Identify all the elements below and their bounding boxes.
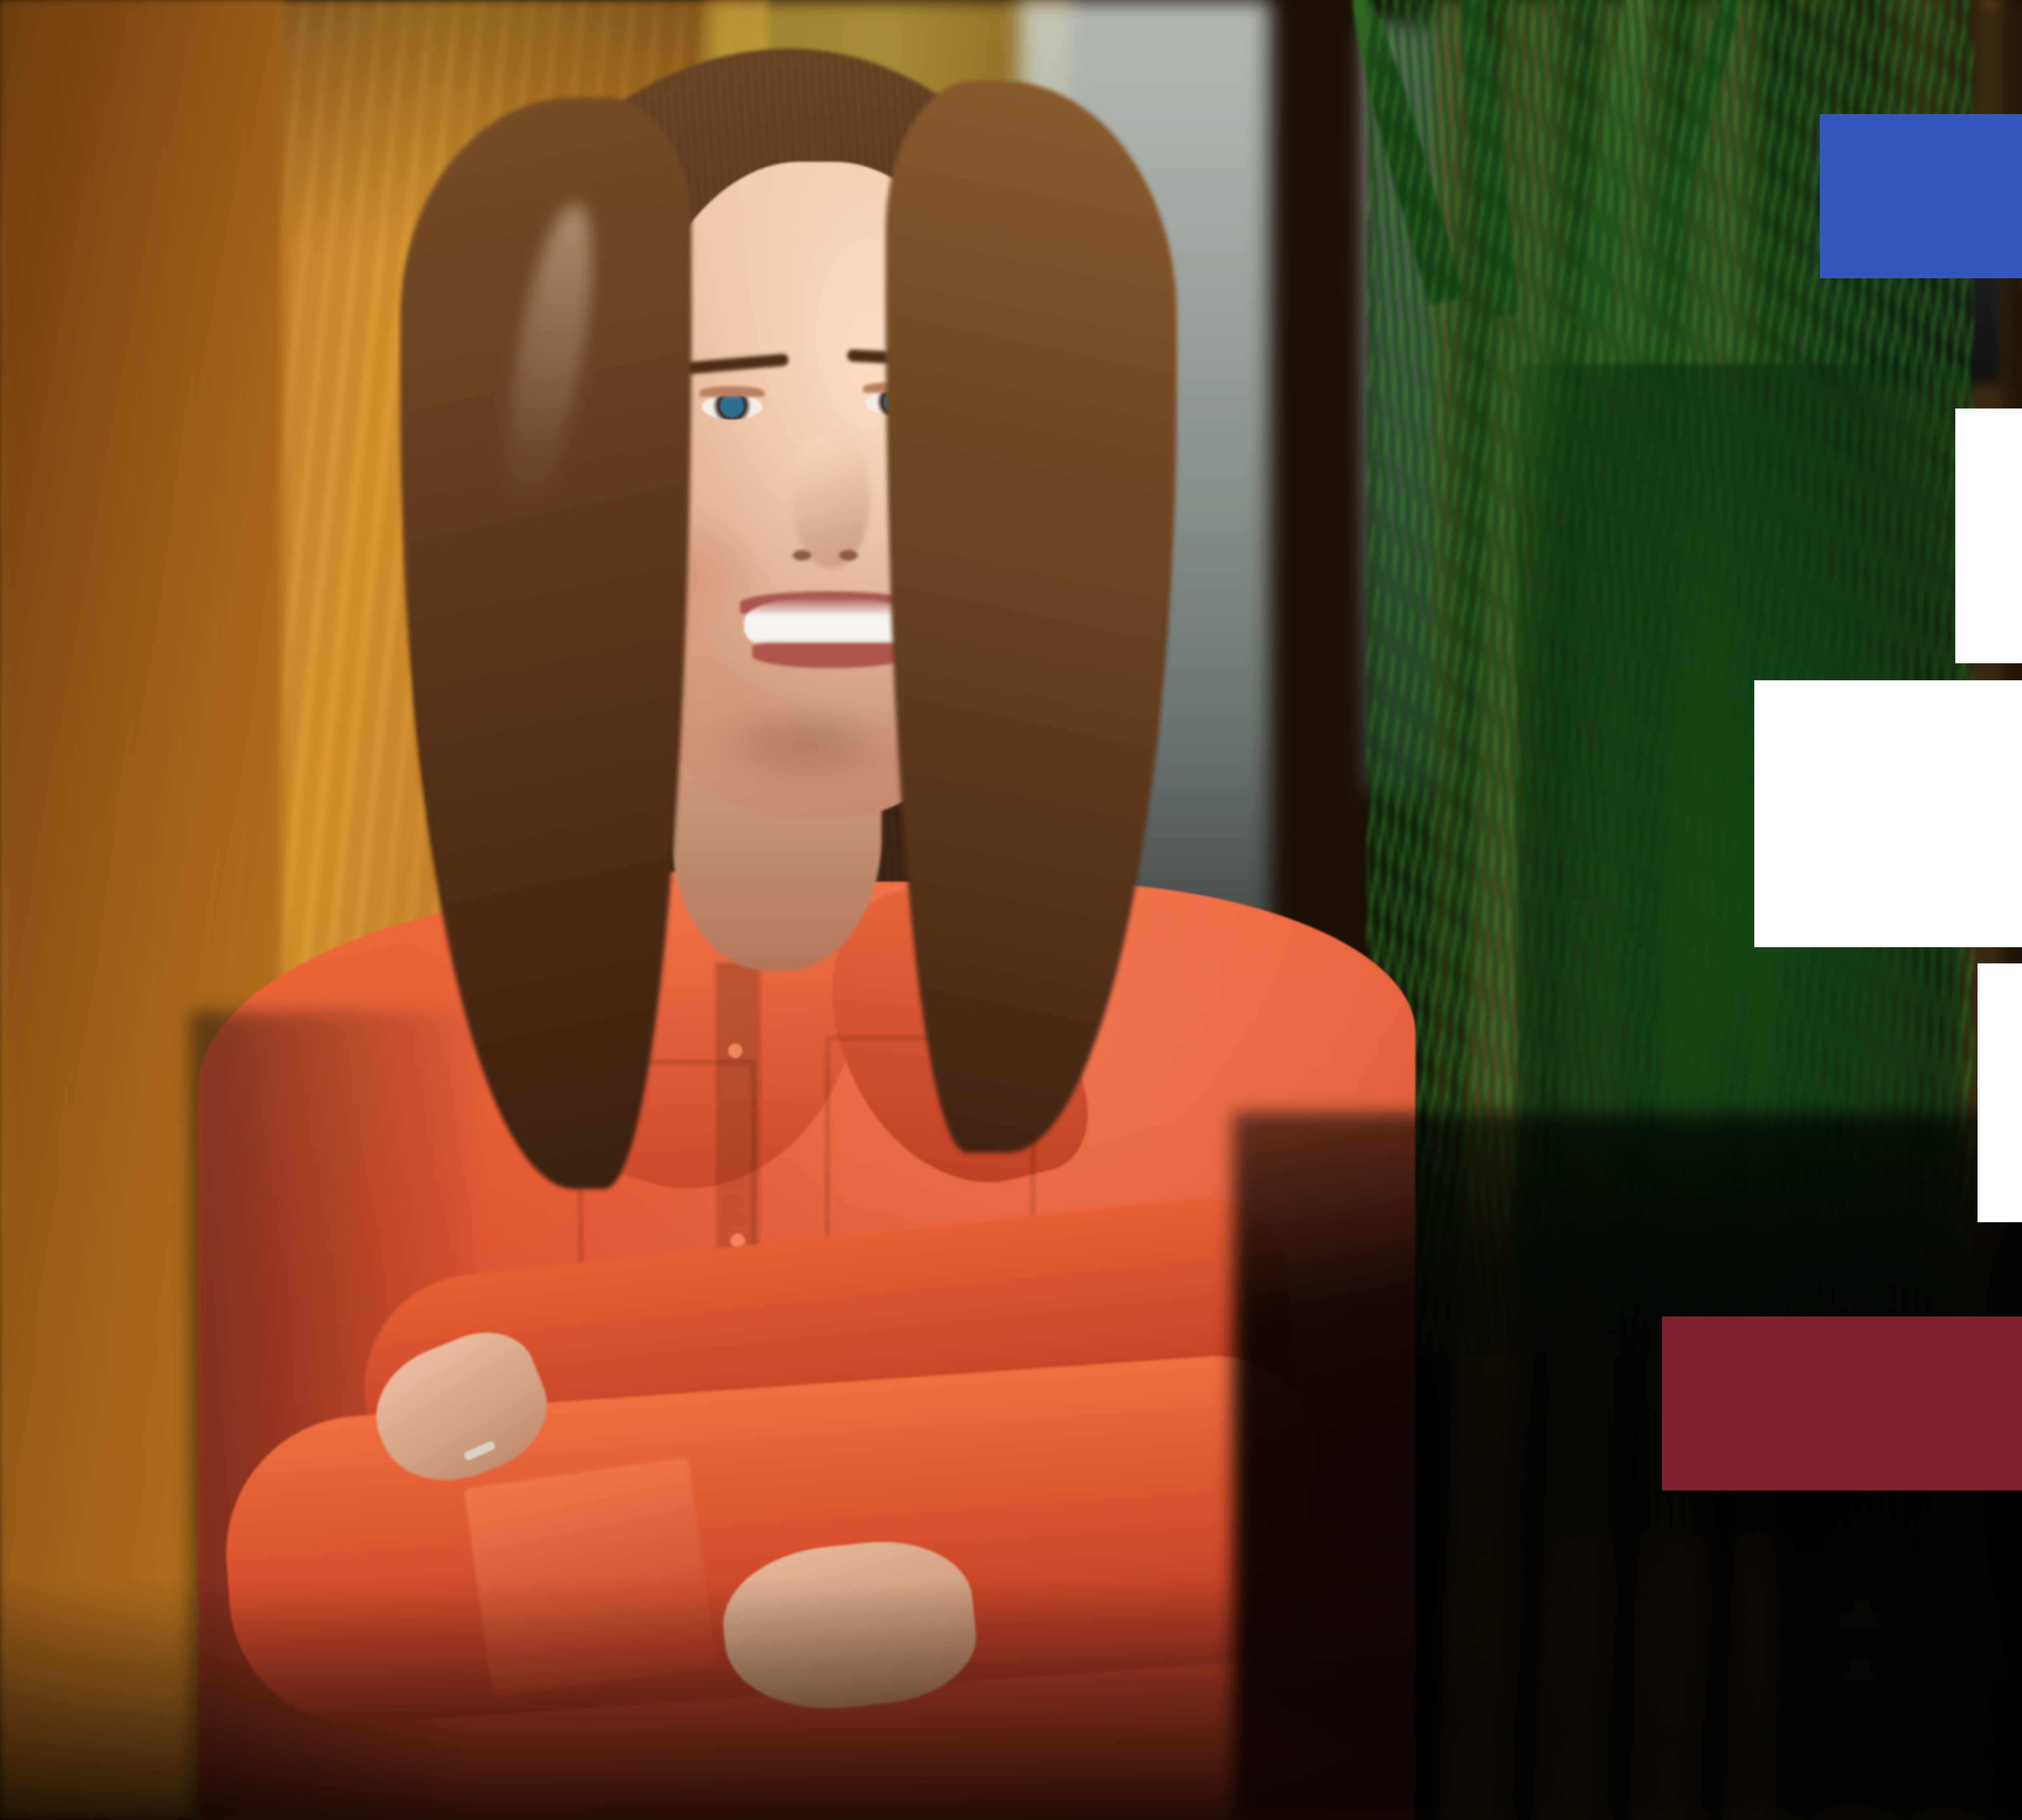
nostril-right (839, 550, 858, 561)
title-block-line2: Return to The (1754, 680, 2022, 947)
presenter-banner: Presented by TQ Solutions / HR Specialis… (1820, 114, 2022, 278)
shirt-button (728, 1043, 742, 1058)
title-block-line1: HR and The (1955, 408, 2022, 663)
lower-lip (752, 643, 910, 668)
eyelid-left (700, 386, 764, 397)
nose (793, 435, 869, 568)
background-photo (0, 0, 2022, 1820)
title-block-line3: Workplace. (1978, 963, 2022, 1222)
chin-shadow (712, 704, 898, 785)
eye-left (702, 394, 762, 419)
webinar-promo-slide: Presented by TQ Solutions / HR Specialis… (0, 0, 2022, 1820)
nostril-left (793, 550, 811, 561)
subtitle-bar: WEBINARS FOR SMALL BUSINESS (1662, 1316, 2022, 1490)
woman-portrait (0, 0, 1415, 1820)
shadow-bottom-edge (0, 1577, 2022, 1820)
